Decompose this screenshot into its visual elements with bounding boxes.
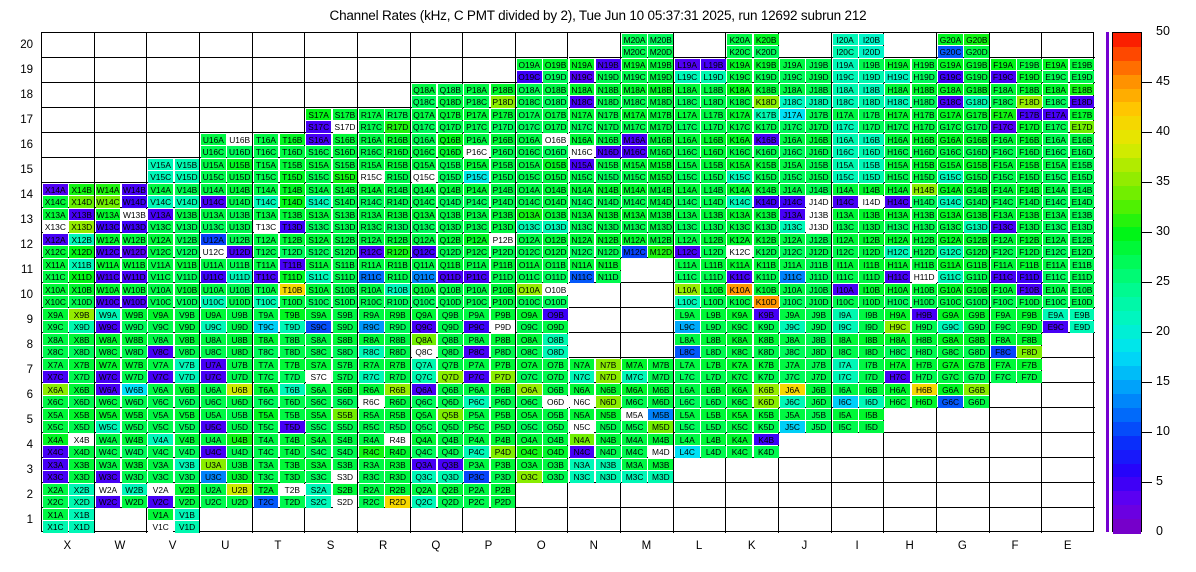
channel-tile-H14D: H14D	[912, 196, 937, 208]
channel-tile-J15A: J15A	[780, 159, 805, 171]
channel-tile-S3A: S3A	[306, 459, 331, 471]
channel-tile-X5B: X5B	[69, 409, 94, 421]
channel-tile-J11D: J11D	[806, 271, 831, 283]
channel-tile-K8C: K8C	[727, 346, 752, 358]
channel-tile-P11C: P11C	[464, 271, 489, 283]
channel-tile-L10A: L10A	[675, 284, 700, 296]
channel-tile-Q17C: Q17C	[412, 121, 437, 133]
channel-tile-V4C: V4C	[148, 446, 173, 458]
channel-tile-T14B: T14B	[280, 184, 305, 196]
channel-tile-X1B: X1B	[69, 509, 94, 521]
channel-tile-S16B: S16B	[333, 134, 358, 146]
channel-tile-M18A: M18A	[622, 84, 647, 96]
channel-tile-G14A: G14A	[938, 184, 963, 196]
channel-tile-K6C: K6C	[727, 396, 752, 408]
channel-tile-F7A: F7A	[991, 359, 1016, 371]
channel-tile-P16D: P16D	[491, 146, 516, 158]
channel-tile-R2C: R2C	[359, 496, 384, 508]
channel-tile-S17C: S17C	[306, 121, 331, 133]
channel-tile-S16A: S16A	[306, 134, 331, 146]
channel-tile-E13C: E13C	[1043, 221, 1068, 233]
channel-tile-Q7D: Q7D	[438, 371, 463, 383]
channel-tile-S3C: S3C	[306, 471, 331, 483]
channel-tile-V4D: V4D	[175, 446, 200, 458]
channel-tile-E9D: E9D	[1070, 321, 1095, 333]
grid-cell-G-1	[937, 508, 990, 533]
channel-tile-E10C: E10C	[1043, 296, 1068, 308]
channel-tile-T14A: T14A	[254, 184, 279, 196]
channel-tile-X2A: X2A	[43, 484, 68, 496]
channel-tile-N13C: N13C	[570, 221, 595, 233]
channel-tile-M6D: M6D	[648, 396, 673, 408]
channel-tile-I7B: I7B	[859, 359, 884, 371]
channel-tile-V5A: V5A	[148, 409, 173, 421]
channel-tile-O8D: O8D	[543, 346, 568, 358]
channel-tile-J11C: J11C	[780, 271, 805, 283]
channel-tile-K16D: K16D	[754, 146, 779, 158]
channel-tile-U11B: U11B	[227, 259, 252, 271]
grid-cell-N-9	[569, 308, 622, 333]
channel-tile-P4A: P4A	[464, 434, 489, 446]
channel-tile-H11D: H11D	[912, 271, 937, 283]
channel-tile-O3A: O3A	[517, 459, 542, 471]
channel-tile-P4D: P4D	[491, 446, 516, 458]
x-tick-label-Q: Q	[410, 540, 463, 552]
channel-tile-K13A: K13A	[727, 209, 752, 221]
channel-tile-V1A: V1A	[148, 509, 173, 521]
channel-tile-X9D: X9D	[69, 321, 94, 333]
channel-tile-V7D: V7D	[175, 371, 200, 383]
channel-tile-M7A: M7A	[622, 359, 647, 371]
channel-tile-V9B: V9B	[175, 309, 200, 321]
channel-tile-G10A: G10A	[938, 284, 963, 296]
channel-tile-H8C: H8C	[885, 346, 910, 358]
channel-tile-H10B: H10B	[912, 284, 937, 296]
channel-tile-S4C: S4C	[306, 446, 331, 458]
channel-tile-O9B: O9B	[543, 309, 568, 321]
channel-tile-O6A: O6A	[517, 384, 542, 396]
colorbar-tick-mark-40	[1142, 132, 1152, 133]
channel-tile-T15D: T15D	[280, 171, 305, 183]
channel-tile-O7C: O7C	[517, 371, 542, 383]
channel-tile-U7D: U7D	[227, 371, 252, 383]
channel-tile-M13B: M13B	[648, 209, 673, 221]
channel-tile-O14A: O14A	[517, 184, 542, 196]
grid-cell-W-18	[95, 83, 148, 108]
channel-tile-N17A: N17A	[570, 109, 595, 121]
channel-tile-K4D: K4D	[754, 446, 779, 458]
grid-cell-M-10	[621, 283, 674, 308]
grid-cell-R-1	[358, 508, 411, 533]
channel-tile-H17B: H17B	[912, 109, 937, 121]
channel-tile-Q16C: Q16C	[412, 146, 437, 158]
channel-tile-J6C: J6C	[780, 396, 805, 408]
channel-tile-Q16A: Q16A	[412, 134, 437, 146]
channel-tile-R15D: R15D	[385, 171, 410, 183]
channel-tile-E10A: E10A	[1043, 284, 1068, 296]
channel-tile-W8B: W8B	[122, 334, 147, 346]
channel-tile-X7D: X7D	[69, 371, 94, 383]
channel-tile-J11A: J11A	[780, 259, 805, 271]
grid-cell-P-1	[463, 508, 516, 533]
channel-tile-T12C: T12C	[254, 246, 279, 258]
channel-tile-G16B: G16B	[964, 134, 989, 146]
channel-tile-J10B: J10B	[806, 284, 831, 296]
channel-tile-Q3D: Q3D	[438, 471, 463, 483]
channel-tile-V7A: V7A	[148, 359, 173, 371]
channel-tile-P2B: P2B	[491, 484, 516, 496]
channel-tile-K11A: K11A	[727, 259, 752, 271]
channel-tile-H16A: H16A	[885, 134, 910, 146]
channel-tile-X8C: X8C	[43, 346, 68, 358]
x-tick-label-I: I	[831, 540, 884, 552]
channel-tile-M5D: M5D	[648, 421, 673, 433]
channel-tile-X6D: X6D	[69, 396, 94, 408]
colorbar-tick-label-5: 5	[1156, 475, 1163, 487]
colorbar-edge-marker	[1106, 32, 1109, 532]
channel-tile-X12D: X12D	[69, 246, 94, 258]
channel-tile-Q5C: Q5C	[412, 421, 437, 433]
channel-tile-U3D: U3D	[227, 471, 252, 483]
channel-tile-S4D: S4D	[333, 446, 358, 458]
channel-tile-S2D: S2D	[333, 496, 358, 508]
channel-tile-T3A: T3A	[254, 459, 279, 471]
channel-tile-J9D: J9D	[806, 321, 831, 333]
channel-tile-Q4D: Q4D	[438, 446, 463, 458]
channel-tile-H18B: H18B	[912, 84, 937, 96]
channel-tile-X13B: X13B	[69, 209, 94, 221]
channel-tile-O3D: O3D	[543, 471, 568, 483]
channel-tile-Q4A: Q4A	[412, 434, 437, 446]
channel-tile-J12D: J12D	[806, 246, 831, 258]
grid-cell-L-3	[674, 458, 727, 483]
channel-tile-M4B: M4B	[648, 434, 673, 446]
channel-tile-T7B: T7B	[280, 359, 305, 371]
channel-tile-G13D: G13D	[964, 221, 989, 233]
channel-tile-K12B: K12B	[754, 234, 779, 246]
grid-cell-E-5	[1042, 408, 1095, 433]
channel-tile-R8B: R8B	[385, 334, 410, 346]
grid-cell-J-20	[779, 33, 832, 58]
channel-tile-K20C: K20C	[727, 46, 752, 58]
channel-tile-U4C: U4C	[201, 446, 226, 458]
grid-cell-E-3	[1042, 458, 1095, 483]
channel-tile-M7D: M7D	[648, 371, 673, 383]
grid-cell-H-1	[884, 508, 937, 533]
channel-tile-W13C: W13C	[96, 221, 121, 233]
channel-tile-S8C: S8C	[306, 346, 331, 358]
channel-tile-O12B: O12B	[543, 234, 568, 246]
channel-tile-K6B: K6B	[754, 384, 779, 396]
channel-tile-S8A: S8A	[306, 334, 331, 346]
channel-tile-O17D: O17D	[543, 121, 568, 133]
channel-tile-Q2B: Q2B	[438, 484, 463, 496]
grid-cell-W-1	[95, 508, 148, 533]
channel-tile-X12B: X12B	[69, 234, 94, 246]
channel-tile-H8B: H8B	[912, 334, 937, 346]
channel-tile-F12C: F12C	[991, 246, 1016, 258]
channel-tile-P10C: P10C	[464, 296, 489, 308]
channel-tile-G16C: G16C	[938, 146, 963, 158]
channel-tile-U9B: U9B	[227, 309, 252, 321]
colorbar-tick-mark-10	[1142, 432, 1152, 433]
channel-tile-O7D: O7D	[543, 371, 568, 383]
channel-tile-P6B: P6B	[491, 384, 516, 396]
grid-cell-N-2	[569, 483, 622, 508]
channel-tile-E18B: E18B	[1070, 84, 1095, 96]
channel-tile-S8B: S8B	[333, 334, 358, 346]
grid-cell-G-3	[937, 458, 990, 483]
channel-tile-M17A: M17A	[622, 109, 647, 121]
channel-tile-W3D: W3D	[122, 471, 147, 483]
channel-tile-F19C: F19C	[991, 71, 1016, 83]
channel-tile-U8D: U8D	[227, 346, 252, 358]
channel-tile-J11B: J11B	[806, 259, 831, 271]
channel-tile-F9D: F9D	[1017, 321, 1042, 333]
channel-tile-T13B: T13B	[280, 209, 305, 221]
channel-tile-P8A: P8A	[464, 334, 489, 346]
channel-tile-W2C: W2C	[96, 496, 121, 508]
channel-tile-J19B: J19B	[806, 59, 831, 71]
x-tick-label-S: S	[304, 540, 357, 552]
channel-tile-S6B: S6B	[333, 384, 358, 396]
grid-cell-M-8	[621, 333, 674, 358]
channel-tile-T4B: T4B	[280, 434, 305, 446]
channel-tile-R6D: R6D	[385, 396, 410, 408]
channel-tile-H19D: H19D	[912, 71, 937, 83]
channel-tile-M3C: M3C	[622, 471, 647, 483]
channel-tile-I14C: I14C	[833, 196, 858, 208]
channel-tile-F14A: F14A	[991, 184, 1016, 196]
channel-tile-M3D: M3D	[648, 471, 673, 483]
channel-tile-G10C: G10C	[938, 296, 963, 308]
grid-cell-I-1	[832, 508, 885, 533]
channel-tile-J14A: J14A	[780, 184, 805, 196]
channel-tile-K11D: K11D	[754, 271, 779, 283]
channel-tile-I5D: I5D	[859, 421, 884, 433]
channel-tile-P7D: P7D	[491, 371, 516, 383]
channel-tile-E19B: E19B	[1070, 59, 1095, 71]
channel-tile-R5A: R5A	[359, 409, 384, 421]
channel-tile-H19A: H19A	[885, 59, 910, 71]
channel-tile-P6A: P6A	[464, 384, 489, 396]
channel-tile-X7B: X7B	[69, 359, 94, 371]
channel-tile-U2C: U2C	[201, 496, 226, 508]
channel-tile-Q4B: Q4B	[438, 434, 463, 446]
channel-tile-U9A: U9A	[201, 309, 226, 321]
channel-tile-K10C: K10C	[727, 296, 752, 308]
channel-tile-H17C: H17C	[885, 121, 910, 133]
channel-tile-H14C: H14C	[885, 196, 910, 208]
channel-tile-F17D: F17D	[1017, 121, 1042, 133]
channel-tile-O4B: O4B	[543, 434, 568, 446]
channel-tile-K17A: K17A	[727, 109, 752, 121]
channel-tile-S12B: S12B	[333, 234, 358, 246]
channel-tile-T7C: T7C	[254, 371, 279, 383]
channel-tile-V10D: V10D	[175, 296, 200, 308]
channel-tile-J9C: J9C	[780, 321, 805, 333]
channel-tile-M14D: M14D	[648, 196, 673, 208]
channel-tile-W6D: W6D	[122, 396, 147, 408]
channel-tile-K11C: K11C	[727, 271, 752, 283]
channel-tile-V3A: V3A	[148, 459, 173, 471]
channel-tile-R5C: R5C	[359, 421, 384, 433]
channel-tile-O11D: O11D	[543, 271, 568, 283]
channel-tile-T16C: T16C	[254, 146, 279, 158]
channel-tile-S13C: S13C	[306, 221, 331, 233]
channel-tile-Q18A: Q18A	[412, 84, 437, 96]
channel-tile-R4C: R4C	[359, 446, 384, 458]
grid-cell-J-3	[779, 458, 832, 483]
channel-tile-F18D: F18D	[1017, 96, 1042, 108]
channel-tile-O17B: O17B	[543, 109, 568, 121]
channel-tile-U12B: U12B	[227, 234, 252, 246]
channel-tile-F9C: F9C	[991, 321, 1016, 333]
heatmap-cells: M20AM20BM20CM20DK20AK20BK20CK20DI20AI20B…	[42, 33, 1093, 531]
channel-tile-X8B: X8B	[69, 334, 94, 346]
channel-tile-S12D: S12D	[333, 246, 358, 258]
channel-tile-L11A: L11A	[675, 259, 700, 271]
channel-tile-V6C: V6C	[148, 396, 173, 408]
channel-tile-I17A: I17A	[833, 109, 858, 121]
channel-tile-P5C: P5C	[464, 421, 489, 433]
channel-tile-Q14C: Q14C	[412, 196, 437, 208]
colorbar-tick-label-40: 40	[1156, 125, 1170, 137]
channel-tile-N4C: N4C	[570, 446, 595, 458]
grid-cell-E-4	[1042, 433, 1095, 458]
grid-cell-F-5	[990, 408, 1043, 433]
channel-tile-J17C: J17C	[780, 121, 805, 133]
channel-tile-I10B: I10B	[859, 284, 884, 296]
channel-tile-L15B: L15B	[701, 159, 726, 171]
channel-tile-G8A: G8A	[938, 334, 963, 346]
channel-tile-J19C: J19C	[780, 71, 805, 83]
channel-tile-K13B: K13B	[754, 209, 779, 221]
channel-tile-W2B: W2B	[122, 484, 147, 496]
channel-tile-W5A: W5A	[96, 409, 121, 421]
heatmap-plot-area: M20AM20BM20CM20DK20AK20BK20CK20DI20AI20B…	[41, 32, 1094, 532]
channel-tile-N18C: N18C	[570, 96, 595, 108]
channel-tile-N18B: N18B	[596, 84, 621, 96]
channel-tile-U6B: U6B	[227, 384, 252, 396]
channel-tile-K20A: K20A	[727, 34, 752, 46]
channel-tile-L7A: L7A	[675, 359, 700, 371]
channel-tile-F13A: F13A	[991, 209, 1016, 221]
channel-tile-W3A: W3A	[96, 459, 121, 471]
channel-tile-L12B: L12B	[701, 234, 726, 246]
channel-tile-M7C: M7C	[622, 371, 647, 383]
channel-tile-G19C: G19C	[938, 71, 963, 83]
channel-tile-Q9B: Q9B	[438, 309, 463, 321]
channel-tile-X9B: X9B	[69, 309, 94, 321]
channel-tile-X10B: X10B	[69, 284, 94, 296]
channel-tile-M16D: M16D	[648, 146, 673, 158]
channel-tile-N7A: N7A	[570, 359, 595, 371]
channel-tile-P2C: P2C	[464, 496, 489, 508]
channel-tile-X13A: X13A	[43, 209, 68, 221]
channel-tile-G12B: G12B	[964, 234, 989, 246]
channel-tile-M4D: M4D	[648, 446, 673, 458]
channel-tile-Q7B: Q7B	[438, 359, 463, 371]
channel-tile-I6C: I6C	[833, 396, 858, 408]
channel-tile-W5C: W5C	[96, 421, 121, 433]
channel-tile-W10D: W10D	[122, 296, 147, 308]
channel-tile-K10D: K10D	[754, 296, 779, 308]
channel-tile-M17B: M17B	[648, 109, 673, 121]
x-tick-label-G: G	[936, 540, 989, 552]
channel-tile-Q18B: Q18B	[438, 84, 463, 96]
channel-tile-T10B: T10B	[280, 284, 305, 296]
channel-tile-R12C: R12C	[359, 246, 384, 258]
channel-tile-N5D: N5D	[596, 421, 621, 433]
channel-tile-W14B: W14B	[122, 184, 147, 196]
channel-tile-S7C: S7C	[306, 371, 331, 383]
channel-tile-G20A: G20A	[938, 34, 963, 46]
grid-cell-T-20	[253, 33, 306, 58]
grid-cell-O-1	[516, 508, 569, 533]
channel-tile-O13D: O13D	[543, 221, 568, 233]
channel-tile-N19D: N19D	[596, 71, 621, 83]
channel-tile-L5C: L5C	[675, 421, 700, 433]
grid-cell-H-20	[884, 33, 937, 58]
grid-cell-N-8	[569, 333, 622, 358]
grid-cell-N-1	[569, 508, 622, 533]
channel-tile-K12D: K12D	[754, 246, 779, 258]
channel-tile-X7A: X7A	[43, 359, 68, 371]
colorbar-tick-label-25: 25	[1156, 275, 1170, 287]
channel-tile-S3B: S3B	[333, 459, 358, 471]
channel-tile-P6C: P6C	[464, 396, 489, 408]
channel-tile-H6D: H6D	[912, 396, 937, 408]
channel-tile-H10D: H10D	[912, 296, 937, 308]
channel-tile-K15C: K15C	[727, 171, 752, 183]
channel-tile-P18A: P18A	[464, 84, 489, 96]
channel-tile-J14C: J14C	[780, 196, 805, 208]
grid-cell-K-2	[726, 483, 779, 508]
channel-tile-J15C: J15C	[780, 171, 805, 183]
channel-tile-H10A: H10A	[885, 284, 910, 296]
channel-tile-V1C: V1C	[148, 521, 173, 533]
channel-tile-O3B: O3B	[543, 459, 568, 471]
grid-cell-H-2	[884, 483, 937, 508]
channel-tile-I6B: I6B	[859, 384, 884, 396]
channel-tile-S11D: S11D	[333, 271, 358, 283]
grid-cell-J-4	[779, 433, 832, 458]
channel-tile-K8D: K8D	[754, 346, 779, 358]
channel-tile-X11B: X11B	[69, 259, 94, 271]
channel-tile-U10A: U10A	[201, 284, 226, 296]
channel-tile-L16B: L16B	[701, 134, 726, 146]
channel-tile-P13B: P13B	[491, 209, 516, 221]
channel-tile-N7B: N7B	[596, 359, 621, 371]
channel-tile-G11B: G11B	[964, 259, 989, 271]
channel-tile-P18B: P18B	[491, 84, 516, 96]
grid-cell-P-20	[463, 33, 516, 58]
channel-tile-E16D: E16D	[1070, 146, 1095, 158]
x-tick-label-P: P	[462, 540, 515, 552]
channel-tile-M17D: M17D	[648, 121, 673, 133]
channel-tile-E10B: E10B	[1070, 284, 1095, 296]
channel-tile-P13D: P13D	[491, 221, 516, 233]
channel-tile-L10C: L10C	[675, 296, 700, 308]
channel-tile-W6B: W6B	[122, 384, 147, 396]
channel-tile-O19D: O19D	[543, 71, 568, 83]
channel-tile-O12D: O12D	[543, 246, 568, 258]
channel-tile-F16A: F16A	[991, 134, 1016, 146]
channel-tile-I19A: I19A	[833, 59, 858, 71]
channel-tile-X1D: X1D	[69, 521, 94, 533]
channel-tile-N7C: N7C	[570, 371, 595, 383]
